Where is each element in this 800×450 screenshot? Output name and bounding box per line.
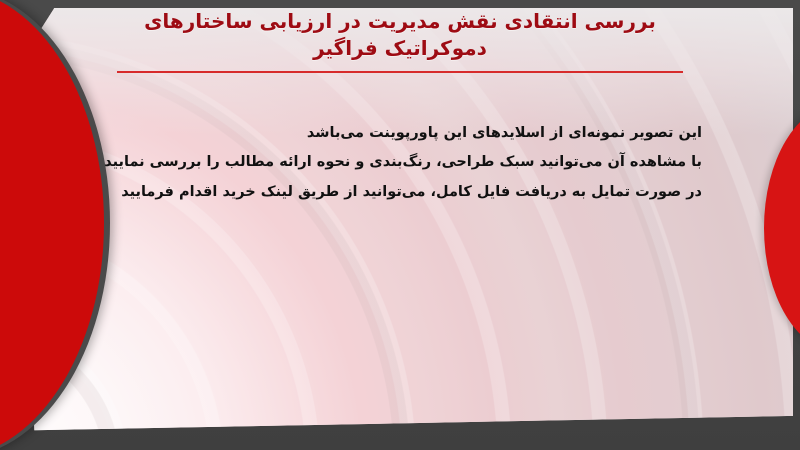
slide-body-block: این تصویر نمونه‌ای از اسلایدهای این پاور… (62, 122, 702, 203)
title-underline-rule (117, 71, 683, 73)
slide-title-line-2: دموکراتیک فراگیر (313, 36, 487, 60)
body-line-2: با مشاهده آن می‌توانید سبک طراحی، رنگ‌بن… (62, 151, 702, 173)
slide-title-block: بررسی انتقادی نقش مدیریت در ارزیابی ساخت… (90, 8, 710, 73)
body-line-1: این تصویر نمونه‌ای از اسلایدهای این پاور… (62, 122, 702, 144)
body-line-3: در صورت تمایل به دریافت فایل کامل، می‌تو… (62, 181, 702, 203)
presentation-slide: بررسی انتقادی نقش مدیریت در ارزیابی ساخت… (0, 0, 800, 450)
slide-content: بررسی انتقادی نقش مدیریت در ارزیابی ساخت… (0, 0, 800, 450)
slide-title: بررسی انتقادی نقش مدیریت در ارزیابی ساخت… (90, 8, 710, 62)
slide-title-line-1: بررسی انتقادی نقش مدیریت در ارزیابی ساخت… (144, 9, 656, 33)
